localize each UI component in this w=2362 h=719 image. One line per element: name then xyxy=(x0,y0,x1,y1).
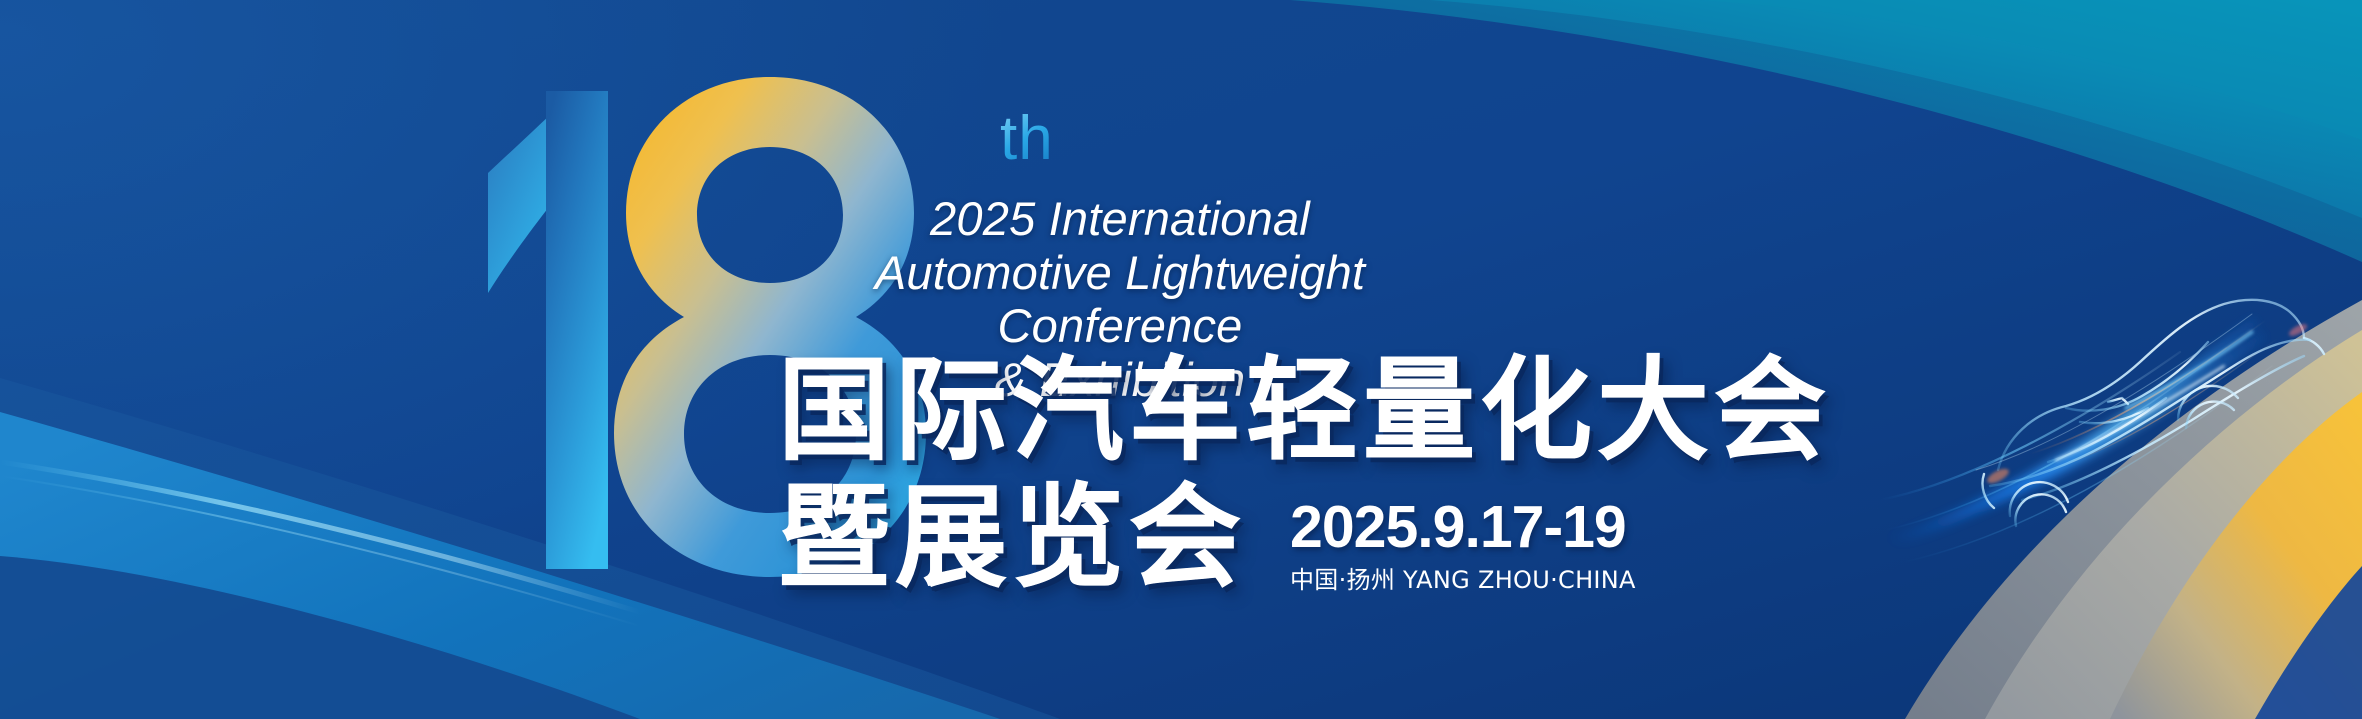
banner-content: th 2025 International Automotive Lightwe… xyxy=(0,0,2362,719)
event-location: 中国·扬州 YANG ZHOU·CHINA xyxy=(1290,568,1636,592)
event-date-location: 2025.9.17-19 中国·扬州 YANG ZHOU·CHINA xyxy=(1290,498,1636,592)
conference-banner: th 2025 International Automotive Lightwe… xyxy=(0,0,2362,719)
chinese-title-line1: 国际汽车轻量化大会 xyxy=(778,355,1831,467)
english-title-line1: 2025 International xyxy=(770,192,1470,246)
ordinal-suffix: th xyxy=(1000,108,1054,170)
chinese-title-line2: 暨展览会 xyxy=(778,482,1246,594)
english-title-line2: Automotive Lightweight Conference xyxy=(770,246,1470,353)
event-date: 2025.9.17-19 xyxy=(1290,498,1636,557)
